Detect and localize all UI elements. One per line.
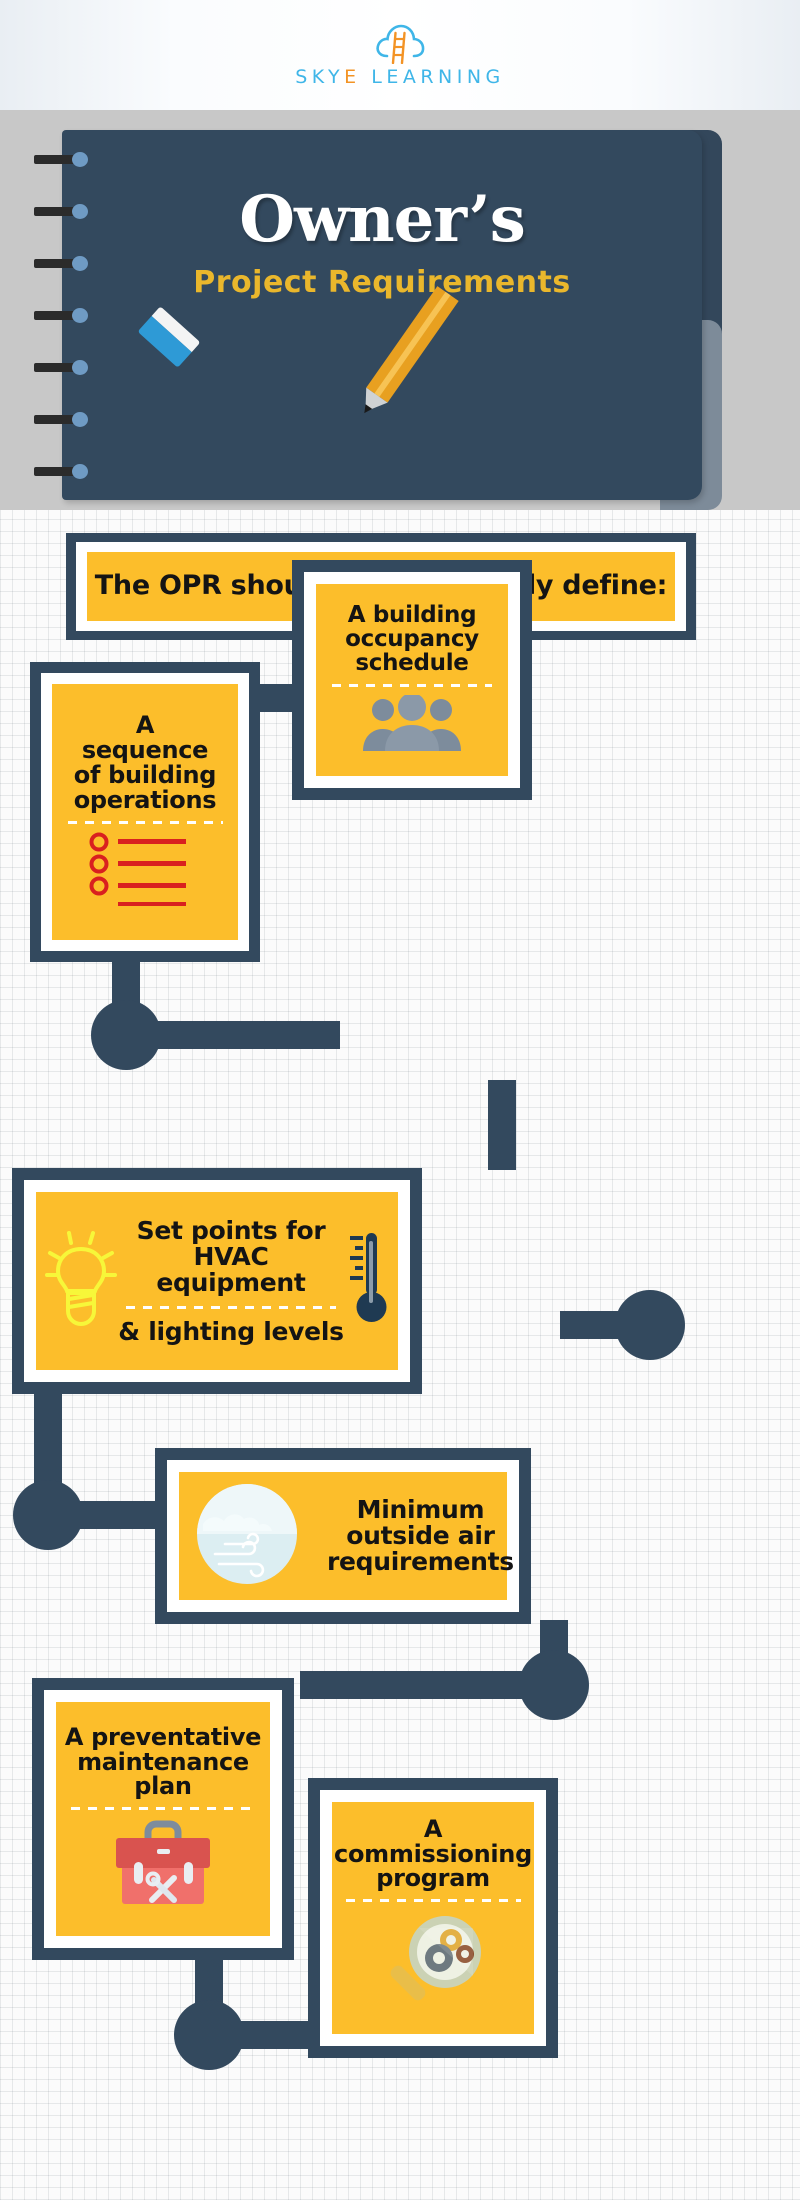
binding-ring bbox=[34, 308, 104, 322]
card-title: A sequence of building operations bbox=[74, 713, 217, 813]
card-title: Minimum outside air requirements bbox=[327, 1497, 514, 1575]
card-title: A commissioning program bbox=[334, 1817, 532, 1892]
card-title: A building occupancy schedule bbox=[345, 604, 479, 676]
page-title: Owner’s bbox=[62, 182, 702, 257]
brand-header: SKYE LEARNING bbox=[0, 0, 800, 110]
wind-cloud-icon bbox=[195, 1482, 299, 1591]
brand-wordmark-highlight: E bbox=[344, 66, 361, 88]
divider bbox=[126, 1306, 336, 1309]
brand-wordmark: SKYE LEARNING bbox=[295, 66, 505, 88]
connector-segment bbox=[560, 1311, 660, 1339]
card-preventative-maintenance-plan: A preventative maintenance plan bbox=[32, 1678, 294, 1960]
brand-wordmark-part1: SKY bbox=[295, 66, 344, 88]
eraser-icon bbox=[138, 306, 201, 367]
divider bbox=[332, 684, 492, 687]
toolbox-icon bbox=[104, 1818, 222, 1913]
connector-segment bbox=[488, 1080, 516, 1170]
cloud-ladder-icon bbox=[373, 22, 427, 64]
card-title: A preventative maintenance plan bbox=[65, 1725, 261, 1800]
card-title: Set points for HVAC equipment bbox=[118, 1218, 344, 1296]
notebook-band: maintenance Occupancy Owner’s Project Re… bbox=[0, 110, 800, 510]
binding-ring bbox=[34, 152, 104, 166]
divider bbox=[68, 821, 223, 824]
connector-segment bbox=[140, 1021, 340, 1049]
divider bbox=[346, 1899, 521, 1902]
checklist-icon bbox=[85, 832, 205, 911]
card-building-occupancy-schedule: A building occupancy schedule bbox=[292, 560, 532, 800]
card-title-secondary: & lighting levels bbox=[118, 1319, 343, 1345]
notebook-cover: Owner’s Project Requirements bbox=[62, 130, 702, 500]
infographic-page: SKYE LEARNING maintenance Occupancy Owne… bbox=[0, 0, 800, 2200]
binding-ring bbox=[34, 360, 104, 374]
card-commissioning-program: A commissioning program bbox=[308, 1778, 558, 2058]
magnifier-gears-icon bbox=[373, 1910, 493, 2019]
card-minimum-outside-air-requirements: Minimum outside air requirements bbox=[155, 1448, 531, 1624]
binding-ring bbox=[34, 464, 104, 478]
binding-ring bbox=[34, 412, 104, 426]
card-sequence-of-building-operations: A sequence of building operations bbox=[30, 662, 260, 962]
lightbulb-icon bbox=[44, 1227, 118, 1336]
card-hvac-setpoints-and-lighting: Set points for HVAC equipment & lighting… bbox=[12, 1168, 422, 1394]
pencil-icon bbox=[351, 286, 458, 424]
brand-wordmark-part2: LEARNING bbox=[361, 66, 505, 88]
people-group-icon bbox=[359, 695, 465, 756]
connector-segment bbox=[300, 1671, 540, 1699]
thermometer-icon bbox=[344, 1227, 390, 1336]
page-subtitle: Project Requirements bbox=[62, 265, 702, 300]
divider bbox=[71, 1807, 256, 1810]
